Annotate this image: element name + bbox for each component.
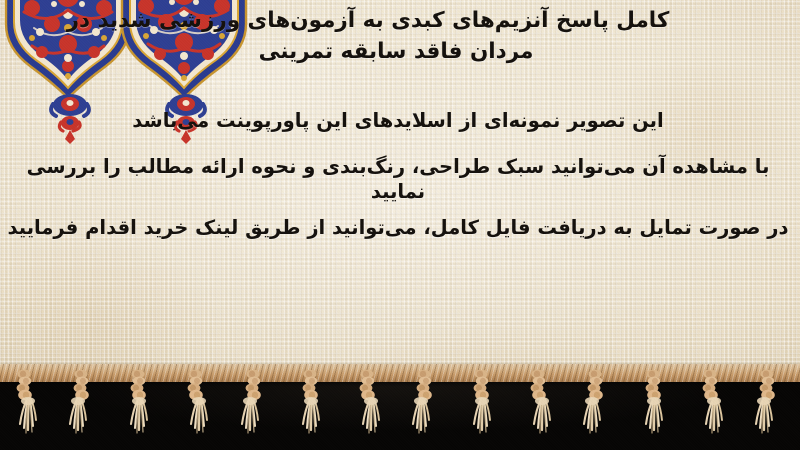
- slide-title-line-2: مردان فاقد سابقه تمرینی: [0, 37, 792, 68]
- slide-title: کامل پاسخ آنزیم‌های کبدی به آزمون‌های ور…: [0, 6, 792, 67]
- fringe-cord: [0, 364, 800, 382]
- slide-body: این تصویر نمونه‌ای از اسلایدهای این پاور…: [6, 108, 790, 241]
- slide-body-line-1: این تصویر نمونه‌ای از اسلایدهای این پاور…: [6, 108, 790, 134]
- slide-body-line-2: با مشاهده آن می‌توانید سبک طراحی، رنگ‌بن…: [6, 154, 790, 205]
- bottom-tassel-fringe: [0, 354, 800, 450]
- slide-canvas: کامل پاسخ آنزیم‌های کبدی به آزمون‌های ور…: [0, 0, 800, 450]
- slide-title-line-1: کامل پاسخ آنزیم‌های کبدی به آزمون‌های ور…: [0, 6, 792, 37]
- slide-body-line-3: در صورت تمایل به دریافت فایل کامل، می‌تو…: [6, 215, 790, 241]
